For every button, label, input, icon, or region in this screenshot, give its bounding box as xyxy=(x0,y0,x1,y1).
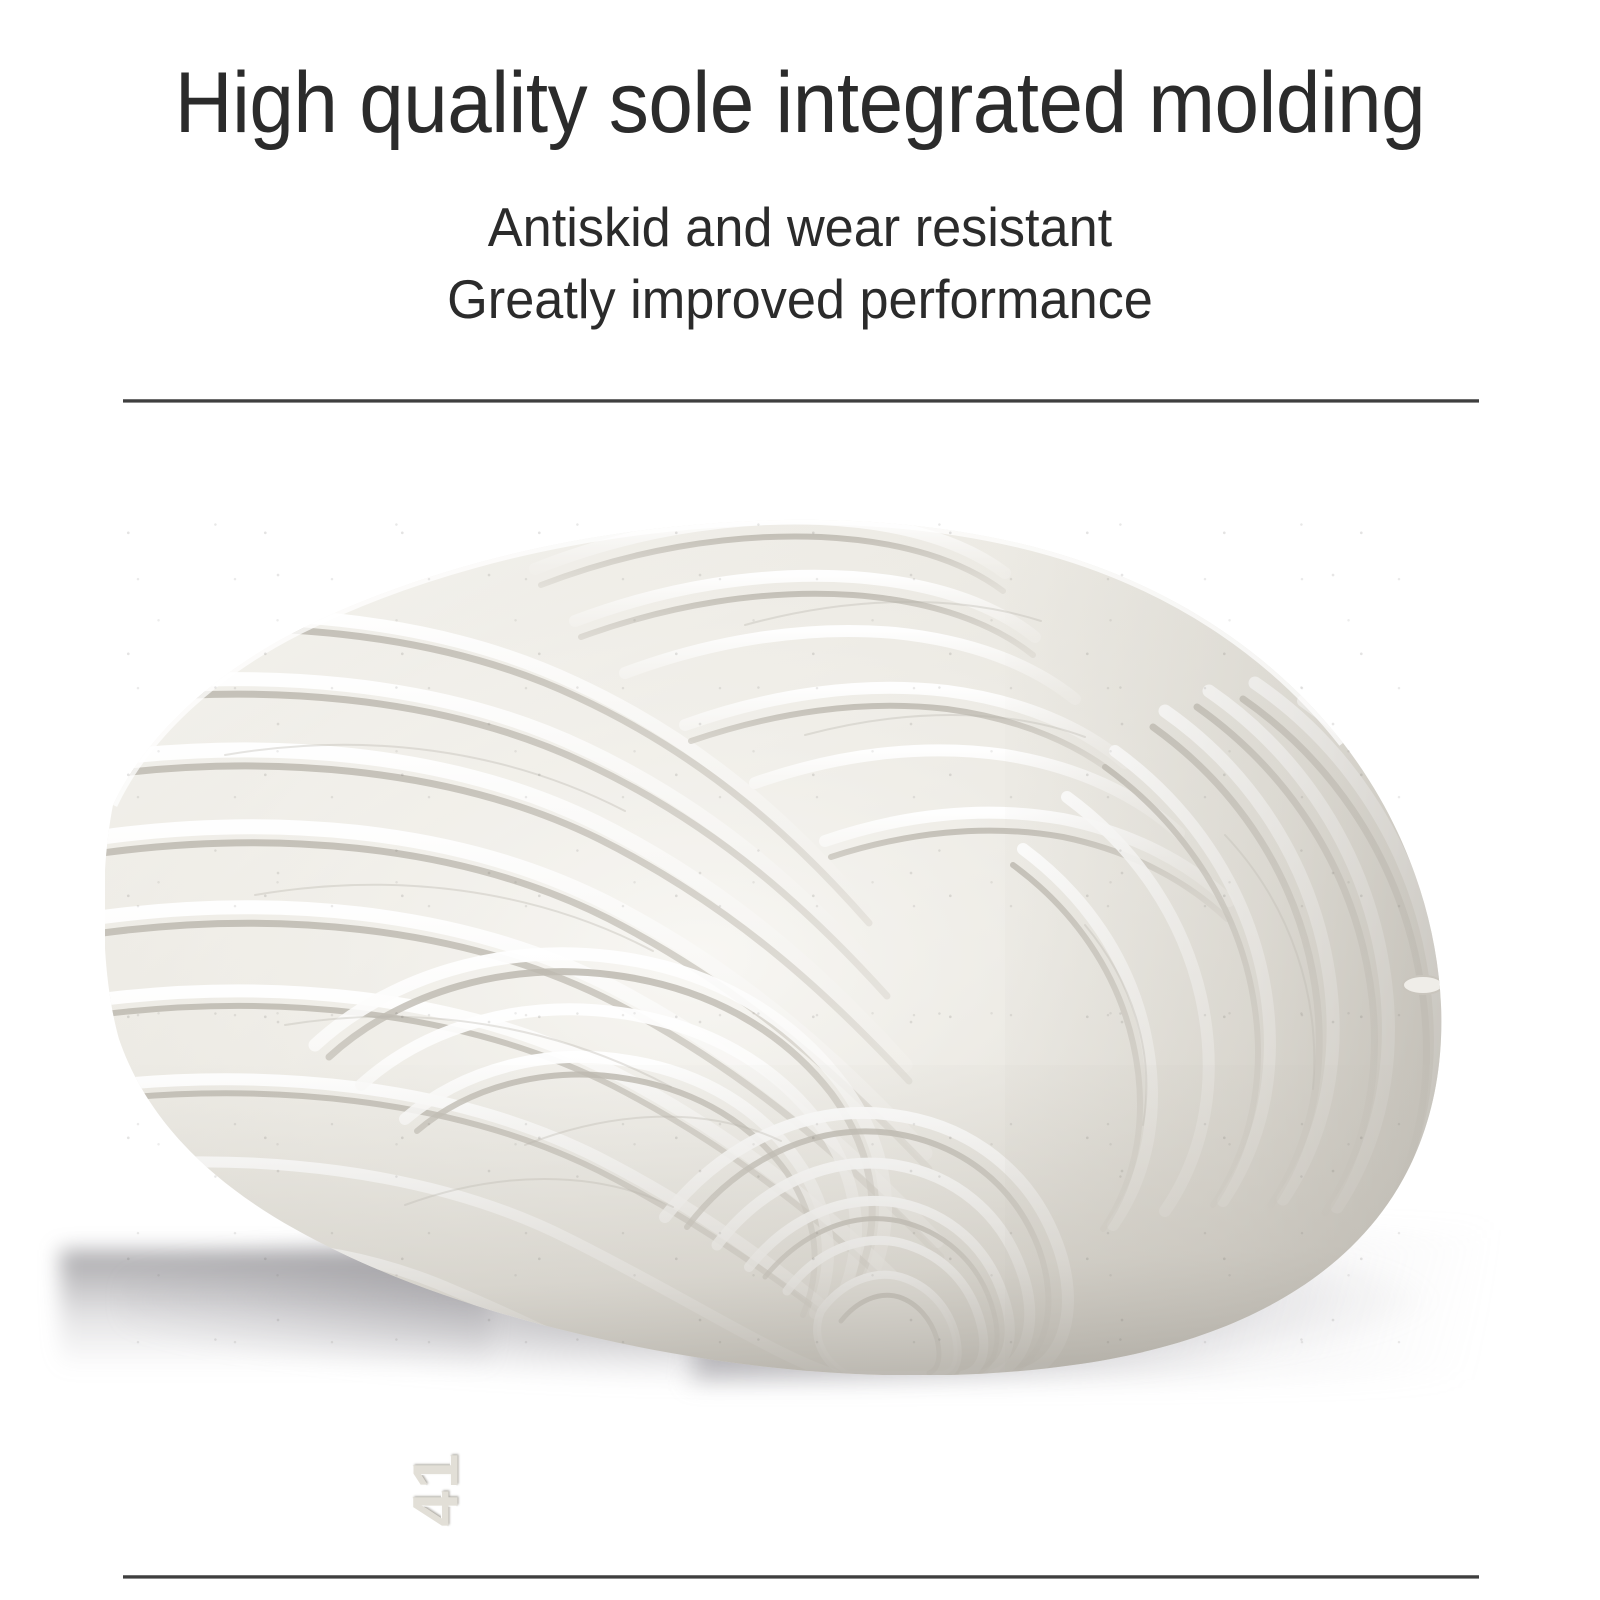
sole-size-marking: 41 xyxy=(399,1451,473,1526)
bottom-divider xyxy=(123,1575,1479,1579)
top-divider xyxy=(123,399,1479,403)
subtitle-line-2: Greatly improved performance xyxy=(40,268,1560,331)
shoe-outsole xyxy=(105,505,1465,1375)
subtitle-line-1: Antiskid and wear resistant xyxy=(40,196,1560,259)
page-title: High quality sole integrated molding xyxy=(56,55,1544,151)
product-image: 41 xyxy=(0,430,1600,1560)
product-detail-page: High quality sole integrated molding Ant… xyxy=(0,0,1600,1600)
